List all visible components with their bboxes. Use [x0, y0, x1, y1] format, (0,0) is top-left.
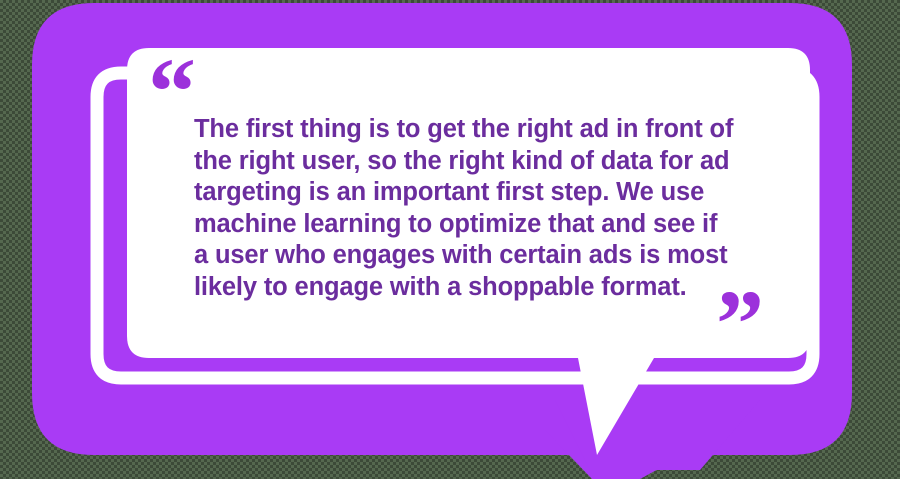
- speech-bubble-svg: [0, 0, 900, 479]
- quote-bubble-graphic: [0, 0, 900, 479]
- canvas-backdrop: “ The first thing is to get the right ad…: [0, 0, 900, 479]
